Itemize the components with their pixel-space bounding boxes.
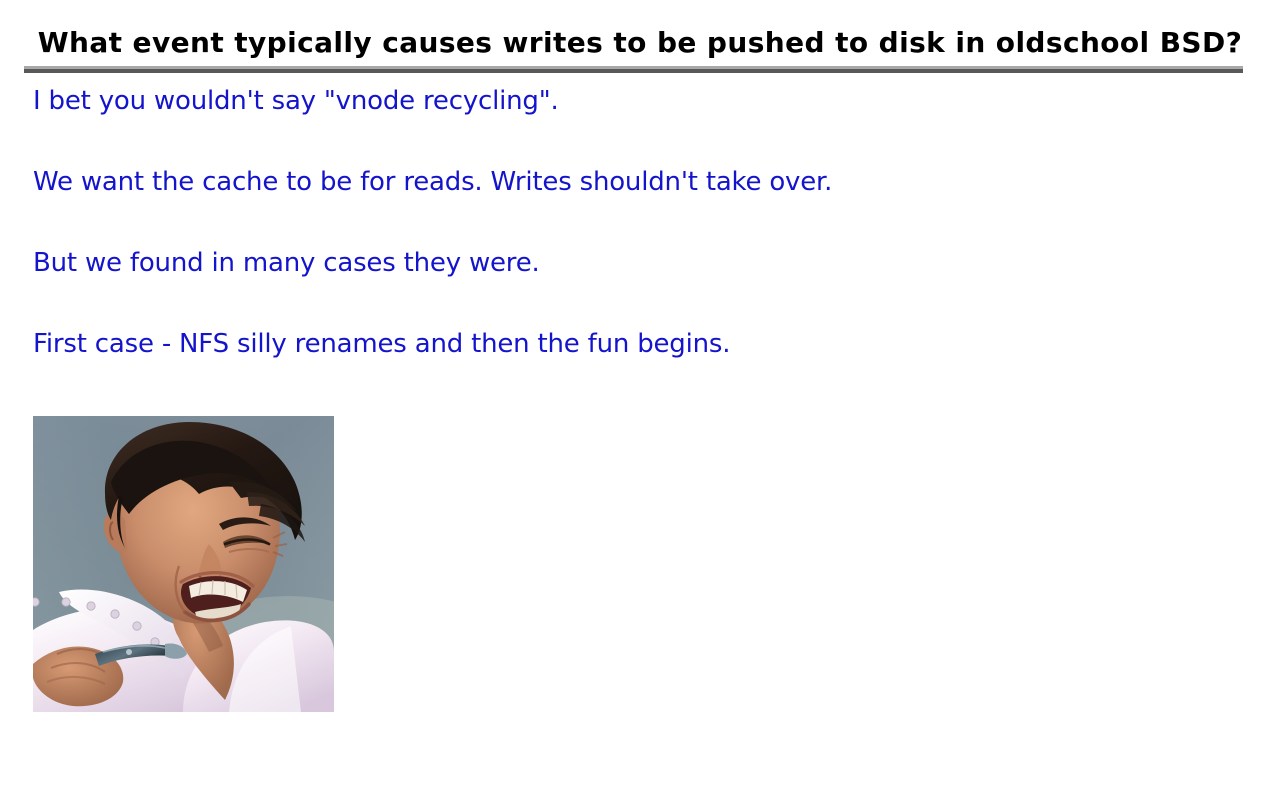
slide-title: What event typically causes writes to be… (0, 26, 1280, 60)
body-line: First case - NFS silly renames and then … (33, 327, 1233, 408)
title-separator-rule (24, 66, 1243, 73)
body-line: We want the cache to be for reads. Write… (33, 165, 1233, 246)
slide-body: I bet you wouldn't say "vnode recycling"… (33, 84, 1233, 408)
body-line: But we found in many cases they were. (33, 246, 1233, 327)
dentist-photo (33, 416, 334, 712)
rule-shadow (24, 69, 1243, 73)
body-line: I bet you wouldn't say "vnode recycling"… (33, 84, 1233, 165)
presentation-slide: What event typically causes writes to be… (0, 0, 1280, 800)
